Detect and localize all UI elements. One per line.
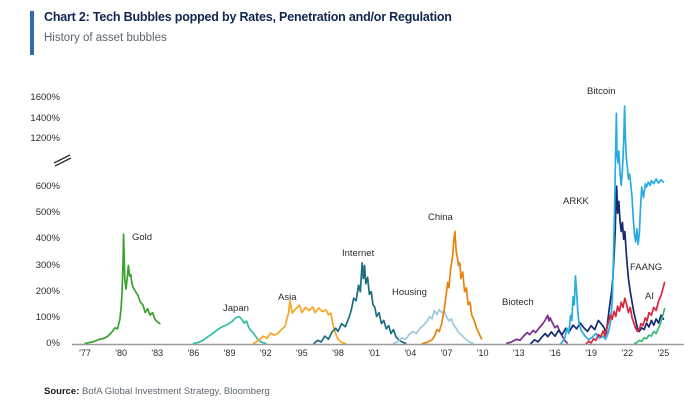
- x-axis-tick: '86: [180, 348, 206, 358]
- y-axis-tick: 100%: [8, 312, 60, 323]
- x-axis-tick: '98: [325, 348, 351, 358]
- x-axis-tick: '25: [650, 348, 676, 358]
- series-label-faang: FAANG: [630, 262, 662, 273]
- x-axis-tick: '01: [361, 348, 387, 358]
- series-line-japan: [193, 317, 265, 344]
- series-label-gold: Gold: [132, 232, 152, 243]
- x-axis-tick: '13: [506, 348, 532, 358]
- y-axis-tick: 0%: [8, 338, 60, 349]
- x-axis-tick: '22: [614, 348, 640, 358]
- series-line-internet: [314, 263, 406, 344]
- series-label-ai: AI: [645, 291, 654, 302]
- source-note: Source: BofA Global Investment Strategy,…: [44, 386, 270, 397]
- x-axis-tick: '95: [289, 348, 315, 358]
- series-label-arkk: ARKK: [563, 196, 589, 207]
- series-line-bitcoin: [561, 106, 663, 343]
- x-axis-tick: '10: [470, 348, 496, 358]
- y-axis-tick: 400%: [8, 233, 60, 244]
- x-axis-tick: '16: [542, 348, 568, 358]
- series-label-biotech: Biotech: [502, 297, 534, 308]
- series-label-bitcoin: Bitcoin: [587, 86, 616, 97]
- x-axis-tick: '83: [144, 348, 170, 358]
- series-layer: [85, 106, 665, 343]
- source-label: Source:: [44, 386, 79, 397]
- x-axis-tick: '19: [578, 348, 604, 358]
- x-axis-tick: '80: [108, 348, 134, 358]
- series-line-china: [422, 231, 481, 343]
- x-axis-tick: '04: [397, 348, 423, 358]
- series-line-asia: [254, 301, 346, 344]
- y-axis-tick: 600%: [8, 181, 60, 192]
- x-axis-tick: '07: [434, 348, 460, 358]
- series-label-asia: Asia: [278, 292, 296, 303]
- y-axis-tick: 200%: [8, 286, 60, 297]
- series-line-gold: [85, 234, 160, 343]
- series-label-internet: Internet: [342, 248, 374, 259]
- y-axis-tick: 1600%: [8, 92, 60, 103]
- y-axis-break-icon: [52, 152, 74, 168]
- y-axis-tick: 500%: [8, 207, 60, 218]
- source-text: BofA Global Investment Strategy, Bloombe…: [79, 386, 269, 397]
- series-line-biotech: [507, 315, 567, 343]
- chart-plot-area: 0%100%200%300%400%500%600%1200%1400%1600…: [0, 0, 700, 412]
- y-axis-tick: 1400%: [8, 113, 60, 124]
- series-label-japan: Japan: [223, 303, 249, 314]
- x-axis-tick: '77: [72, 348, 98, 358]
- x-axis-tick: '92: [253, 348, 279, 358]
- x-axis-tick: '89: [217, 348, 243, 358]
- series-label-housing: Housing: [392, 287, 427, 298]
- y-axis-tick: 1200%: [8, 133, 60, 144]
- series-label-china: China: [428, 212, 453, 223]
- y-axis-tick: 300%: [8, 260, 60, 271]
